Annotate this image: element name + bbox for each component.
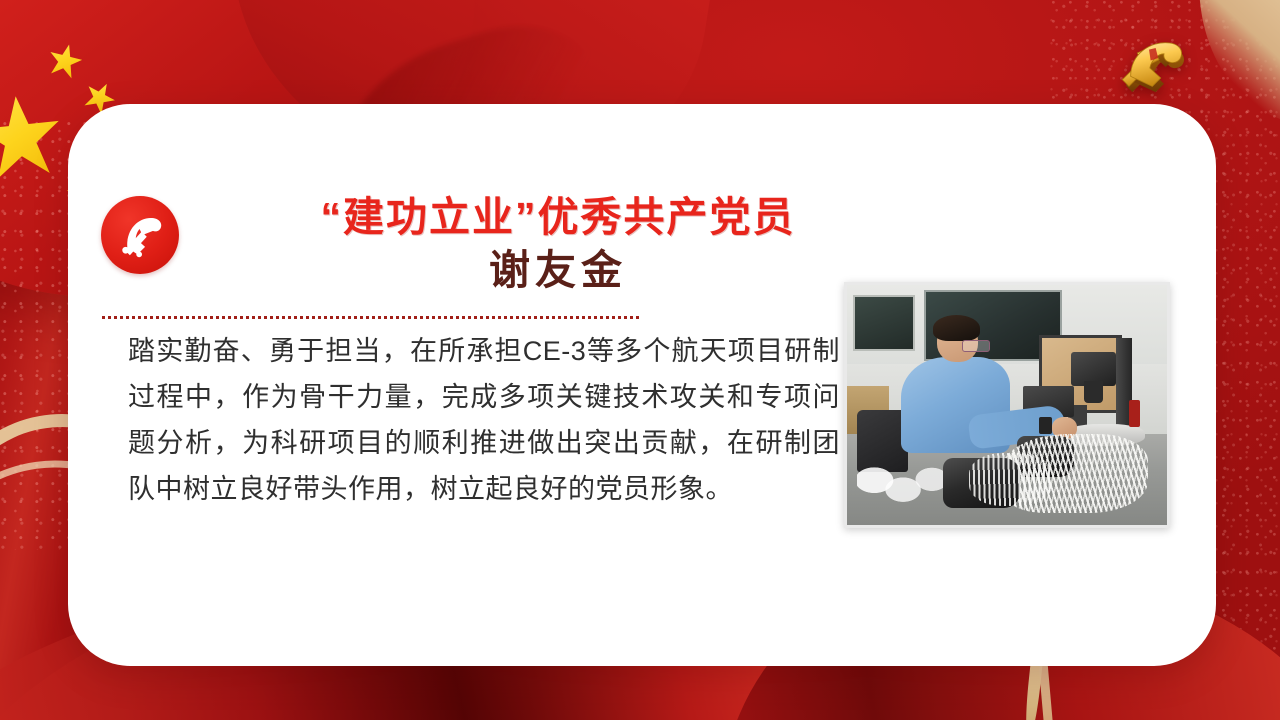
title-block: “建功立业”优秀共产党员 谢友金	[188, 192, 928, 297]
photo-person-watch	[1039, 417, 1052, 434]
lab-photo	[847, 285, 1167, 525]
photo-frame	[844, 282, 1170, 528]
photo-dark-panel	[853, 295, 915, 352]
flag-star-small-1-icon	[44, 40, 85, 81]
person-name: 谢友金	[188, 244, 928, 297]
party-badge	[101, 196, 179, 274]
dotted-divider	[102, 316, 642, 319]
hammer-sickle-icon	[113, 208, 167, 262]
party-emblem-gold-icon	[1112, 28, 1196, 98]
flag-star-large-icon	[0, 92, 66, 184]
photo-sample-bags	[857, 463, 953, 506]
photo-red-handle	[1129, 400, 1140, 426]
page-title: “建功立业”优秀共产党员	[188, 192, 928, 242]
photo-person-hair	[933, 315, 979, 341]
content-card: “建功立业”优秀共产党员 谢友金 踏实勤奋、勇于担当，在所承担CE-3等多个航天…	[68, 104, 1216, 666]
photo-cable-harness-front	[969, 453, 1052, 506]
photo-microscope-lens	[1084, 381, 1103, 403]
slide-root: “建功立业”优秀共产党员 谢友金 踏实勤奋、勇于担当，在所承担CE-3等多个航天…	[0, 0, 1280, 720]
body-paragraph: 踏实勤奋、勇于担当，在所承担CE-3等多个航天项目研制过程中，作为骨干力量，完成…	[128, 328, 840, 512]
photo-person-glasses	[962, 340, 990, 352]
